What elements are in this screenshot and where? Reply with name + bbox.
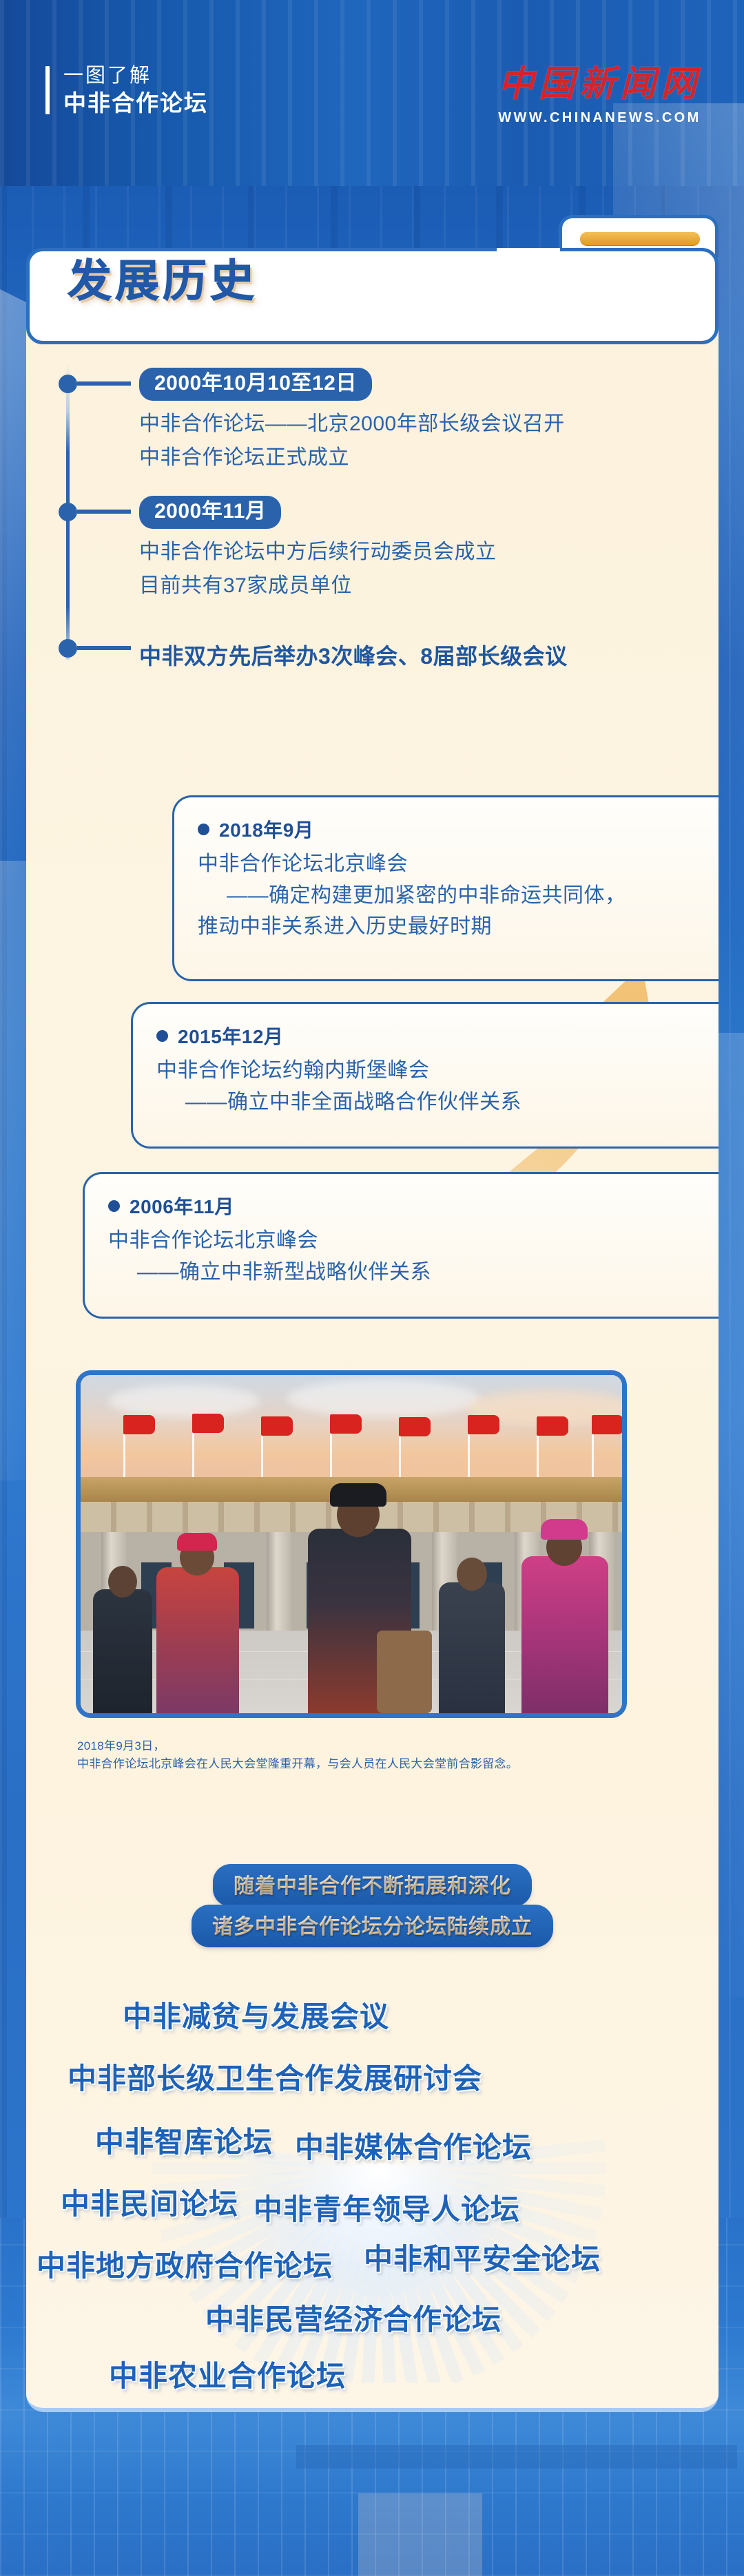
banner-pill: 诸多中非合作论坛分论坛陆续成立 [192,1905,553,1947]
summit-detail: ——确立中非全面战略合作伙伴关系 [156,1087,699,1118]
summit-date-row: 2018年9月 [198,815,699,843]
summit-card-2015: 2015年12月 中非合作论坛约翰内斯堡峰会 ——确立中非全面战略合作伙伴关系 [131,1002,719,1149]
summit-detail-cont: 推动中非关系进入历史最好时期 [198,911,699,943]
title-tab-notch [497,248,560,258]
header-accent-bar [45,66,50,114]
forum-name: 中非民营经济合作论坛 [205,2305,502,2334]
photo-canvas [81,1375,622,1713]
page-title: 发展历史 [68,259,258,303]
banner-row-1: 随着中非合作不断拓展和深化 [26,1864,719,1907]
banner-pill-text: 诸多中非合作论坛分论坛陆续成立 [212,1916,533,1938]
summit-date-row: 2006年11月 [108,1192,699,1219]
timeline-text-line: 中非合作论坛正式成立 [139,441,565,475]
timeline-stem [77,510,131,514]
forum-name: 中非智库论坛 [95,2128,273,2157]
timeline-text-line: 目前共有37家成员单位 [139,569,497,603]
photo-attendee [156,1567,239,1713]
timeline-stem [77,381,131,386]
bullet-dot-icon [198,824,209,835]
bullet-dot-icon [156,1030,168,1042]
chinanews-logo: 中国新闻网 WWW.CHINANEWS.COM [498,66,701,126]
caption-line-1: 2018年9月3日， [77,1737,642,1755]
summit-detail: ——确定构建更加紧密的中非命运共同体， [198,880,699,912]
header-title: 中非合作论坛 [63,92,208,114]
section-title-card: 发展历史 [26,215,719,342]
forum-name-list: 中非减贫与发展会议中非部长级卫生合作发展研讨会中非智库论坛中非媒体合作论坛中非民… [26,1956,719,2383]
summit-date: 2015年12月 [178,1022,283,1049]
gold-dash-ornament [580,232,700,245]
timeline-highlight-text: 中非双方先后举办3次峰会、8届部长级会议 [139,639,568,671]
forum-name: 中非减贫与发展会议 [123,2002,389,2031]
photo-attendee [439,1582,505,1713]
timeline-dot-icon [59,375,77,393]
summit-detail: ——确立中非新型战略伙伴关系 [108,1257,699,1288]
timeline-dot-icon [59,639,77,658]
summit-card-2018: 2018年9月 中非合作论坛北京峰会 ——确定构建更加紧密的中非命运共同体， 推… [172,795,719,981]
summit-name: 中非合作论坛北京峰会 [108,1225,699,1257]
timeline-node-2: 中非双方先后举办3次峰会、8届部长级会议 [66,639,568,671]
summit-name: 中非合作论坛约翰内斯堡峰会 [156,1055,699,1087]
photo-caption: 2018年9月3日， 中非合作论坛北京峰会在人民大会堂隆重开幕，与会人员在人民大… [77,1737,642,1774]
forum-name: 中非和平安全论坛 [364,2245,601,2274]
timeline-dot-icon [59,503,77,521]
summit-date: 2018年9月 [219,815,313,843]
timeline-text-line: 中非合作论坛中方后续行动委员会成立 [139,536,497,569]
forum-name: 中非部长级卫生合作发展研讨会 [68,2064,482,2093]
banner-row-2: 诸多中非合作论坛分论坛陆续成立 [26,1905,719,1947]
forum-name: 中非青年领导人论坛 [254,2195,520,2224]
summit-date: 2006年11月 [130,1192,234,1219]
timeline-text-line: 中非合作论坛——北京2000年部长级会议召开 [139,408,565,441]
header-brand-block: 一图了解 中非合作论坛 [45,66,208,114]
summit-date-row: 2015年12月 [156,1022,699,1049]
timeline-date-badge: 2000年11月 [139,496,281,529]
bullet-dot-icon [108,1200,120,1212]
forum-name: 中非地方政府合作论坛 [37,2252,333,2281]
forum-name: 中非民间论坛 [61,2190,238,2219]
summit-name: 中非合作论坛北京峰会 [198,848,699,880]
header-kicker: 一图了解 [63,66,208,86]
forum-name: 中非农业合作论坛 [109,2362,346,2391]
banner-pill-text: 随着中非合作不断拓展和深化 [234,1875,511,1898]
timeline-node-0: 2000年10月10至12日 中非合作论坛——北京2000年部长级会议召开 中非… [66,368,565,474]
summit-card-2006: 2006年11月 中非合作论坛北京峰会 ——确立中非新型战略伙伴关系 [83,1172,719,1319]
photo-attendee [521,1556,608,1713]
photo-attendee [93,1589,152,1713]
banner-pill: 随着中非合作不断拓展和深化 [213,1864,532,1907]
summit-photo [76,1370,627,1718]
forum-name: 中非媒体合作论坛 [295,2133,532,2162]
logo-website-url: WWW.CHINANEWS.COM [498,110,701,126]
timeline-stem [77,646,131,650]
page-header: 一图了解 中非合作论坛 中国新闻网 WWW.CHINANEWS.COM [0,0,744,186]
timeline-date-badge: 2000年10月10至12日 [139,368,372,401]
timeline-node-1: 2000年11月 中非合作论坛中方后续行动委员会成立 目前共有37家成员单位 [66,496,497,603]
logo-chinese-text: 中国新闻网 [498,66,701,102]
caption-line-2: 中非合作论坛北京峰会在人民大会堂隆重开幕，与会人员在人民大会堂前合影留念。 [77,1755,642,1773]
